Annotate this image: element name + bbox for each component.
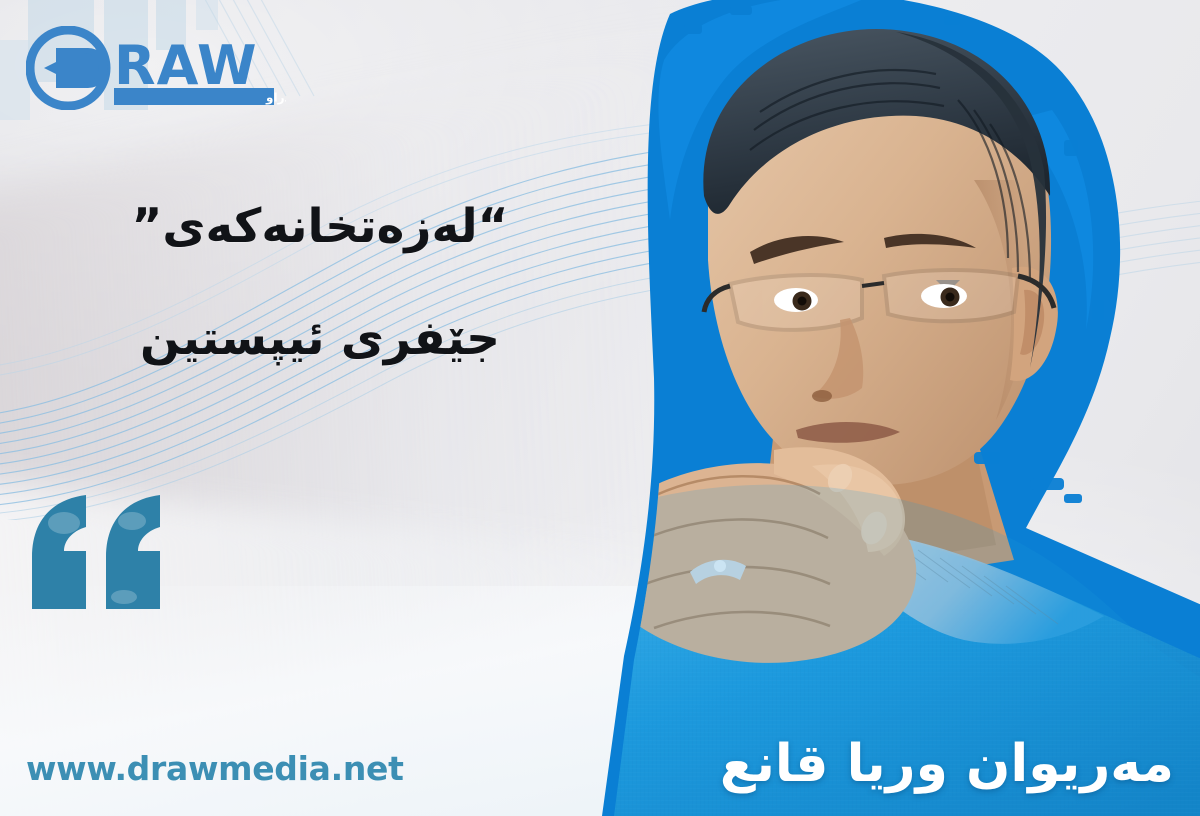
quote-line-1: “لەزەتخانەکەی” <box>60 192 580 262</box>
decorative-quotation-mark-icon <box>28 493 164 611</box>
author-name: مەریوان وریا قانع <box>720 734 1174 794</box>
logo-wordmark: RAW <box>114 34 258 97</box>
quote-card: RAW دامەزراوەی میدیایی دراو “لەزەتخانەکە… <box>0 0 1200 816</box>
svg-text:RAW: RAW <box>114 34 258 97</box>
draw-media-logo[interactable]: RAW دامەزراوەی میدیایی دراو <box>26 26 286 110</box>
quote-block: “لەزەتخانەکەی” جێفری ئیپستین <box>60 192 580 373</box>
quote-line-2: جێفری ئیپستین <box>60 304 580 374</box>
logo-circle-d-icon <box>30 30 108 106</box>
portrait-image <box>544 0 1200 816</box>
website-url[interactable]: www.drawmedia.net <box>26 749 404 788</box>
logo-tagline-text: دامەزراوەی میدیایی دراو <box>265 91 286 106</box>
logo-tagline-plate: دامەزراوەی میدیایی دراو <box>114 88 286 106</box>
